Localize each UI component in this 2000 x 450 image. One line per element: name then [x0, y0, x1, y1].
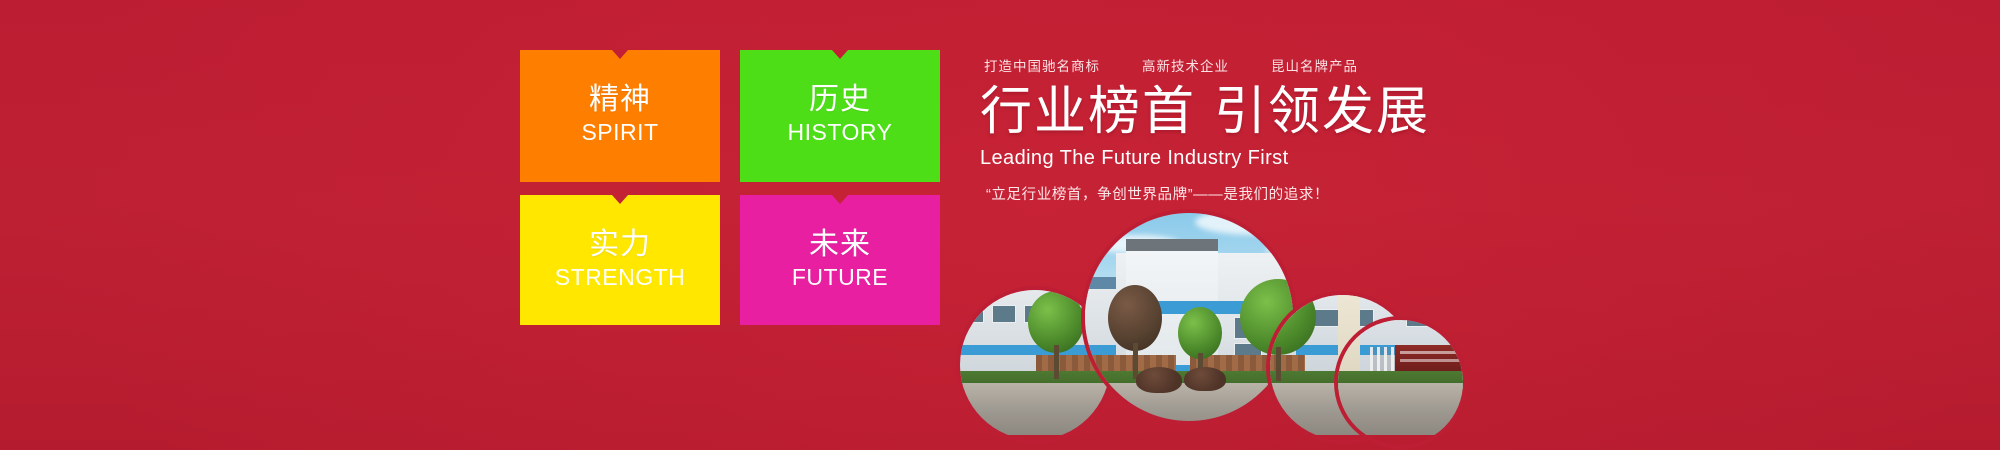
- headline-part-1: 行业榜首: [980, 83, 1196, 141]
- headline-part-2: 引领发展: [1214, 83, 1430, 141]
- value-tile-history[interactable]: 历史 HISTORY: [740, 50, 940, 182]
- window: [1406, 320, 1432, 327]
- shrub: [1136, 367, 1182, 393]
- tile-title-cn: 实力: [589, 229, 651, 261]
- value-tile-future[interactable]: 未来 FUTURE: [740, 195, 940, 325]
- tree-trunk: [1276, 347, 1281, 381]
- tile-title-cn: 未来: [809, 229, 871, 261]
- tile-title-en: STRENGTH: [555, 263, 686, 292]
- tree-crown: [1028, 291, 1084, 353]
- factory-scene: [1338, 320, 1463, 435]
- photo-bubble-far-right: [1338, 320, 1463, 445]
- window: [992, 305, 1016, 323]
- tile-title-en: HISTORY: [788, 118, 893, 147]
- tree-trunk: [1054, 345, 1059, 379]
- credential-list: 打造中国驰名商标 高新技术企业 昆山名牌产品: [980, 55, 1500, 75]
- company-signboard: [1395, 345, 1463, 371]
- headline-subtitle: Leading The Future Industry First: [980, 147, 1500, 170]
- ground: [1085, 383, 1293, 421]
- tile-title-en: SPIRIT: [581, 118, 658, 147]
- window: [1314, 309, 1340, 327]
- tree: [1108, 285, 1162, 377]
- window: [1440, 320, 1463, 327]
- credential-item-2: 高新技术企业: [1142, 55, 1229, 75]
- tile-title-cn: 精神: [589, 84, 651, 116]
- tree-crown: [1178, 307, 1222, 359]
- value-tile-spirit[interactable]: 精神 SPIRIT: [520, 50, 720, 182]
- value-tile-strength[interactable]: 实力 STRENGTH: [520, 195, 720, 325]
- tree-crown: [1270, 295, 1316, 355]
- tile-title-en: FUTURE: [792, 263, 888, 292]
- tree: [1270, 295, 1316, 379]
- factory-photo-cluster: [940, 195, 1485, 450]
- headline: 行业榜首引领发展: [980, 84, 1500, 141]
- headline-copy-block: 打造中国驰名商标 高新技术企业 昆山名牌产品 行业榜首引领发展 Leading …: [980, 55, 1500, 204]
- tree-crown: [1108, 285, 1162, 351]
- ground: [1338, 383, 1463, 435]
- window: [960, 305, 984, 323]
- factory-scene: [1085, 213, 1293, 421]
- promo-banner: 精神 SPIRIT 历史 HISTORY 实力 STRENGTH 未来 FUTU…: [0, 0, 2000, 450]
- tree: [1028, 291, 1084, 375]
- credential-item-1: 打造中国驰名商标: [984, 55, 1100, 75]
- credential-item-3: 昆山名牌产品: [1271, 55, 1358, 75]
- value-tile-grid: 精神 SPIRIT 历史 HISTORY 实力 STRENGTH 未来 FUTU…: [520, 50, 940, 325]
- tile-title-cn: 历史: [809, 84, 871, 116]
- photo-bubble-center: [1085, 213, 1293, 421]
- shrub: [1184, 367, 1226, 391]
